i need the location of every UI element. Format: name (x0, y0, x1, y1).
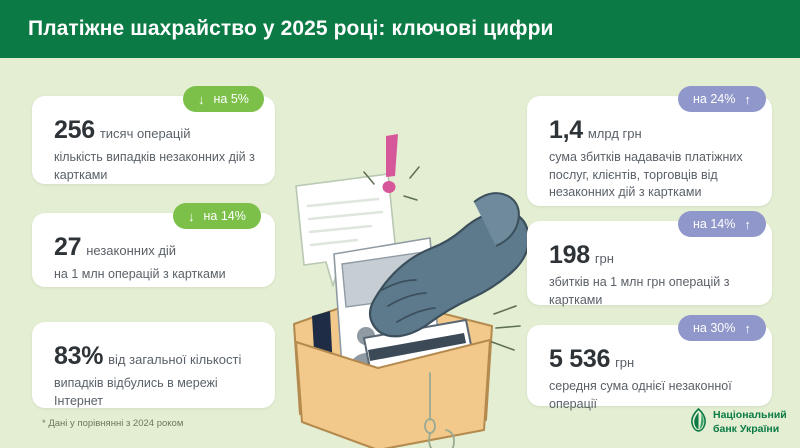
badge-label: на 14% (693, 217, 735, 231)
badge-label: на 14% (204, 209, 246, 223)
stat-headline: 27незаконних дій (54, 233, 259, 262)
nbu-logo-line1: Національний (713, 409, 787, 421)
arrow-up-icon: ↑ (744, 218, 751, 231)
stat-card-left-3: 83%від загальної кількості випадків відб… (32, 322, 275, 408)
stat-value: 1,4 (549, 116, 583, 144)
stat-description: збитків на 1 млн грн операцій з картками (549, 274, 756, 310)
arrow-up-icon: ↑ (744, 322, 751, 335)
illustration-gloved-hand-stealing-card: 1234 5678 (278, 128, 528, 448)
stat-value: 5 536 (549, 345, 610, 373)
badge-left-2: ↓ на 14% (173, 203, 261, 229)
stat-card-right-1: 1,4млрд грн сума збитків надавачів платі… (527, 96, 772, 206)
stat-description: на 1 млн операцій з картками (54, 266, 259, 284)
nbu-logo-line2: банк України (713, 423, 779, 435)
stat-value: 83% (54, 342, 103, 370)
viburnum-leaf-icon (690, 408, 707, 437)
stat-headline: 83%від загальної кількості (54, 342, 259, 371)
badge-right-3: на 30% ↑ (678, 315, 766, 341)
stat-description: випадків відбулись в мережі Інтернет (54, 375, 259, 411)
nbu-logo-text: Національний банк України (713, 409, 787, 435)
badge-right-1: на 24% ↑ (678, 86, 766, 112)
stat-unit: грн (595, 251, 614, 266)
stat-description: кількість випадків незаконних дій з карт… (54, 149, 259, 185)
stat-unit: незаконних дій (86, 243, 176, 258)
badge-label: на 24% (693, 92, 735, 106)
stat-headline: 256тисяч операцій (54, 116, 259, 145)
motion-lines (492, 306, 520, 350)
page-title: Платіжне шахрайство у 2025 році: ключові… (28, 17, 554, 41)
stat-description: сума збитків надавачів платіжних послуг,… (549, 149, 756, 202)
stat-unit: тисяч операцій (100, 126, 191, 141)
stat-value: 256 (54, 116, 95, 144)
arrow-up-icon: ↑ (744, 93, 751, 106)
arrow-down-icon: ↓ (188, 210, 195, 223)
arrow-down-icon: ↓ (198, 93, 205, 106)
stat-value: 27 (54, 233, 81, 261)
badge-label: на 5% (214, 92, 249, 106)
stat-headline: 5 536грн (549, 345, 756, 374)
stat-value: 198 (549, 241, 590, 269)
infographic-body: 1234 5678 (0, 58, 800, 448)
stat-headline: 198грн (549, 241, 756, 270)
nbu-logo: Національний банк України (690, 408, 787, 437)
page-header: Платіжне шахрайство у 2025 році: ключові… (0, 0, 800, 58)
stat-unit: грн (615, 355, 634, 370)
stat-headline: 1,4млрд грн (549, 116, 756, 145)
badge-right-2: на 14% ↑ (678, 211, 766, 237)
footnote: * Дані у порівнянні з 2024 роком (42, 418, 183, 429)
stat-unit: від загальної кількості (108, 352, 241, 367)
stat-unit: млрд грн (588, 126, 642, 141)
badge-left-1: ↓ на 5% (183, 86, 264, 112)
badge-label: на 30% (693, 321, 735, 335)
